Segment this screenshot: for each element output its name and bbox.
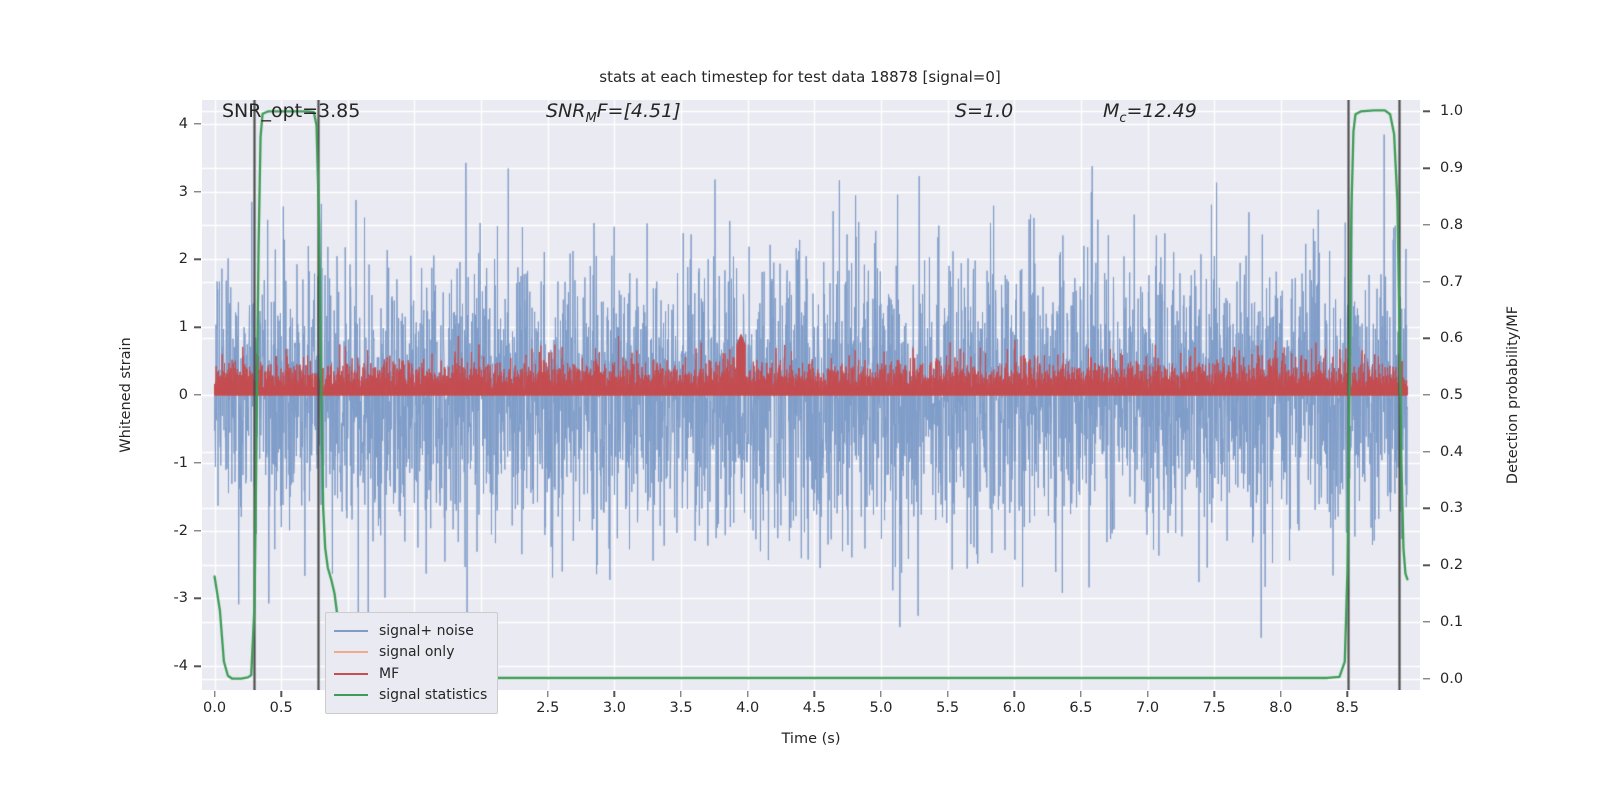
matplotlib-figure: stats at each timestep for test data 188… — [0, 0, 1600, 800]
y-tick-right-mark — [1423, 111, 1430, 112]
annotation-detection-stat: S=1.0 — [955, 100, 1013, 122]
x-tick-mark — [281, 691, 282, 697]
y-tick-left-mark — [194, 530, 201, 531]
legend-item[interactable]: signal+ noise — [334, 620, 488, 642]
legend-item-label: signal only — [379, 644, 454, 660]
legend-item-label: signal+ noise — [379, 623, 474, 639]
y-axis-right-label: Detection probability/MF — [1505, 306, 1521, 484]
y-tick-right-label: 0.5 — [1440, 387, 1463, 403]
y-tick-left-label: -3 — [174, 590, 188, 606]
y-tick-left-label: -4 — [174, 658, 188, 674]
legend-item-label: MF — [379, 666, 399, 682]
annotation-snr-opt: SNR_opt=3.85 — [222, 100, 360, 122]
y-tick-left-label: 0 — [179, 387, 188, 403]
y-tick-right-mark — [1423, 281, 1430, 282]
x-tick-label: 5.0 — [869, 700, 892, 716]
y-tick-right-mark — [1423, 167, 1430, 168]
legend-item[interactable]: signal only — [334, 642, 488, 664]
y-axis-left-label: Whitened strain — [118, 337, 134, 452]
y-tick-right-mark — [1423, 224, 1430, 225]
y-tick-right-label: 0.7 — [1440, 274, 1463, 290]
y-tick-right-mark — [1423, 564, 1430, 565]
y-tick-right-mark — [1423, 394, 1430, 395]
y-tick-left-label: -1 — [174, 455, 188, 471]
x-tick-label: 4.5 — [803, 700, 826, 716]
x-tick-mark — [1213, 691, 1214, 697]
y-tick-left-label: 3 — [179, 184, 188, 200]
x-tick-label: 7.0 — [1136, 700, 1159, 716]
x-tick-mark — [1080, 691, 1081, 697]
annotation-chirp-mass: Mc=12.49 — [1103, 100, 1197, 126]
y-tick-right-mark — [1423, 508, 1430, 509]
x-tick-label: 4.0 — [736, 700, 759, 716]
y-tick-right-mark — [1423, 338, 1430, 339]
y-tick-right-label: 0.3 — [1440, 500, 1463, 516]
x-tick-label: 8.5 — [1336, 700, 1359, 716]
y-tick-right-label: 0.6 — [1440, 330, 1463, 346]
y-tick-right-label: 0.8 — [1440, 217, 1463, 233]
x-tick-mark — [614, 691, 615, 697]
y-tick-right-mark — [1423, 621, 1430, 622]
x-tick-mark — [747, 691, 748, 697]
x-tick-label: 0.5 — [270, 700, 293, 716]
x-tick-label: 7.5 — [1203, 700, 1226, 716]
legend[interactable]: signal+ noisesignal onlyMFsignal statist… — [325, 612, 498, 714]
x-tick-mark — [214, 691, 215, 697]
x-tick-mark — [814, 691, 815, 697]
x-tick-label: 8.0 — [1269, 700, 1292, 716]
page-title: stats at each timestep for test data 188… — [0, 68, 1600, 86]
y-tick-left-mark — [194, 394, 201, 395]
legend-item[interactable]: MF — [334, 663, 488, 685]
y-tick-left-label: -2 — [174, 523, 188, 539]
legend-swatch-icon — [334, 630, 368, 632]
y-tick-right-label: 0.1 — [1440, 614, 1463, 630]
y-tick-left-mark — [194, 191, 201, 192]
legend-swatch-icon — [334, 694, 368, 696]
legend-item-label: signal statistics — [379, 687, 487, 703]
y-tick-left-mark — [194, 598, 201, 599]
x-tick-mark — [1014, 691, 1015, 697]
legend-swatch-icon — [334, 651, 368, 653]
y-tick-right-mark — [1423, 451, 1430, 452]
x-tick-mark — [547, 691, 548, 697]
plot-axes-area — [202, 100, 1420, 690]
x-tick-mark — [680, 691, 681, 697]
legend-swatch-icon — [334, 673, 368, 675]
x-tick-mark — [947, 691, 948, 697]
y-tick-right-label: 0.0 — [1440, 671, 1463, 687]
y-tick-left-label: 4 — [179, 116, 188, 132]
x-axis-label: Time (s) — [782, 731, 841, 747]
x-tick-label: 5.5 — [936, 700, 959, 716]
y-tick-left-mark — [194, 259, 201, 260]
y-tick-left-label: 2 — [179, 251, 188, 267]
annotation-snr-mf: SNRMF=[4.51] — [546, 100, 681, 126]
y-tick-right-label: 0.2 — [1440, 557, 1463, 573]
x-tick-mark — [1147, 691, 1148, 697]
y-tick-left-mark — [194, 326, 201, 327]
x-tick-label: 3.0 — [603, 700, 626, 716]
y-tick-left-mark — [194, 462, 201, 463]
y-tick-left-mark — [194, 666, 201, 667]
y-tick-right-label: 0.4 — [1440, 444, 1463, 460]
x-tick-label: 6.0 — [1003, 700, 1026, 716]
x-tick-label: 6.5 — [1069, 700, 1092, 716]
x-tick-mark — [1347, 691, 1348, 697]
y-tick-right-label: 0.9 — [1440, 160, 1463, 176]
x-tick-mark — [1280, 691, 1281, 697]
x-tick-mark — [880, 691, 881, 697]
x-tick-label: 3.5 — [670, 700, 693, 716]
y-tick-right-label: 1.0 — [1440, 103, 1463, 119]
x-tick-label: 2.5 — [536, 700, 559, 716]
plot-canvas — [202, 100, 1420, 690]
legend-item[interactable]: signal statistics — [334, 685, 488, 707]
x-tick-label: 0.0 — [203, 700, 226, 716]
y-tick-left-mark — [194, 123, 201, 124]
y-tick-left-label: 1 — [179, 319, 188, 335]
y-tick-right-mark — [1423, 678, 1430, 679]
